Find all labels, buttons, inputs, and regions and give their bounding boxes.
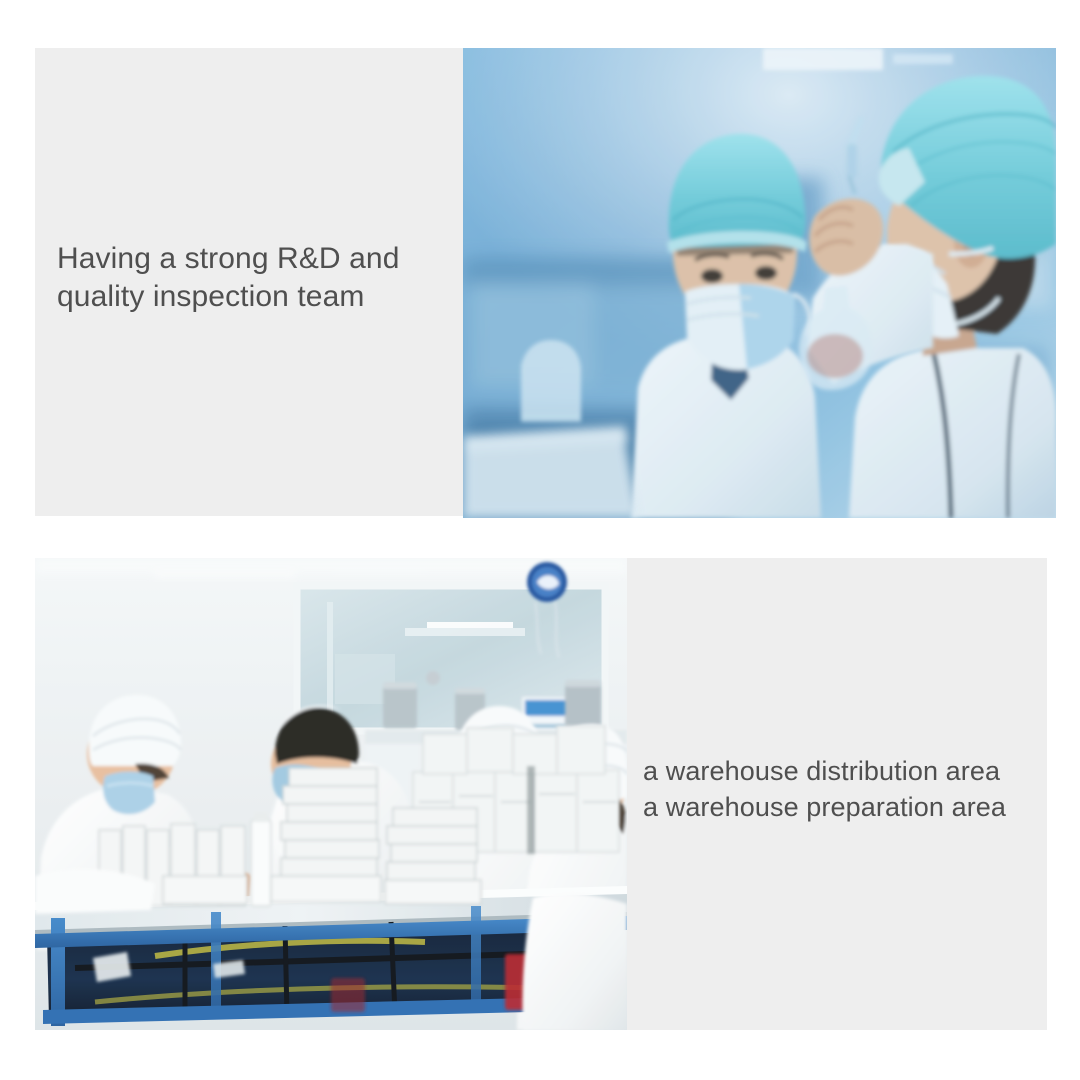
top-section: Having a strong R&D and quality inspecti… <box>0 0 1080 540</box>
warehouse-packing-photo <box>35 558 627 1030</box>
poster-root: Having a strong R&D and quality inspecti… <box>0 0 1080 1080</box>
lab-inspection-photo <box>463 48 1056 518</box>
bottom-section: a warehouse distribution area a warehous… <box>0 540 1080 1080</box>
bottom-caption-text: a warehouse distribution area a warehous… <box>643 753 1043 825</box>
warehouse-packing-photo-art <box>35 558 627 1030</box>
lab-inspection-photo-art <box>463 48 1056 518</box>
top-caption-text: Having a strong R&D and quality inspecti… <box>57 240 457 316</box>
top-caption-panel: Having a strong R&D and quality inspecti… <box>35 48 465 516</box>
